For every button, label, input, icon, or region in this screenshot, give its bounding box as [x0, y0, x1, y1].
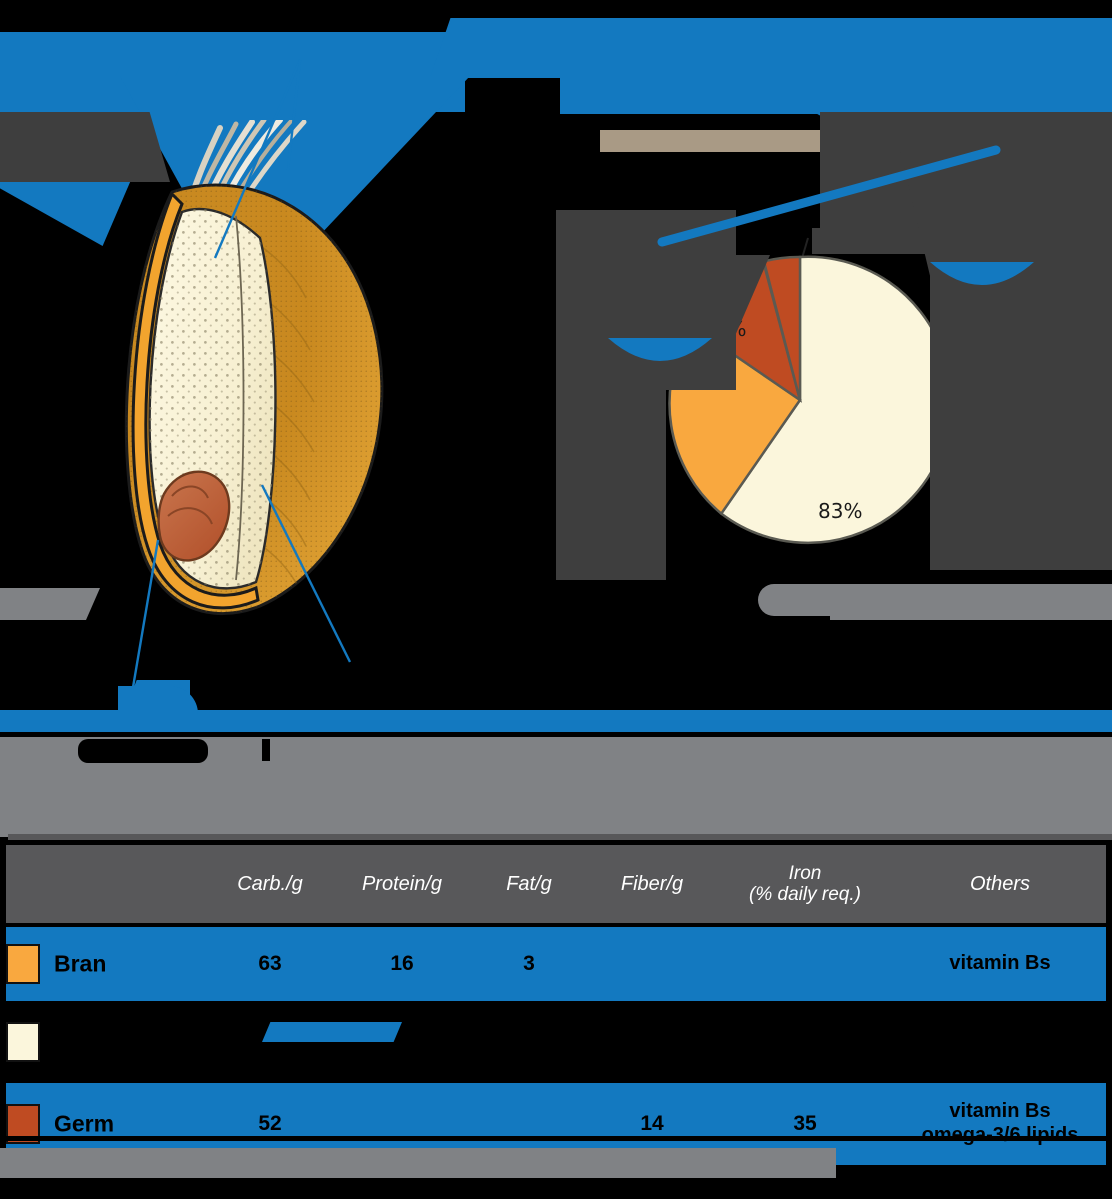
cell-endosperm-protein: [334, 1005, 470, 1079]
cell-bran-protein: 16: [334, 927, 470, 1001]
table-row-endosperm[interactable]: [6, 1005, 1106, 1079]
redaction-block-tan-strip: [600, 130, 820, 152]
table-row-bran[interactable]: Bran 63 16 3 vitamin Bs: [6, 927, 1106, 1001]
redaction-block-title-right: [430, 18, 1112, 78]
color-swatch-endosperm: [6, 1022, 40, 1062]
wheat-kernel-diagram: [60, 120, 480, 640]
row-label-bran: Bran: [54, 951, 106, 977]
cell-germ-others: vitamin Bs omega-3/6 lipids: [894, 1083, 1106, 1165]
col-header-fiber: Fiber/g: [588, 845, 716, 923]
cell-endosperm-carb: [206, 1005, 334, 1079]
figure-canvas: 14% 83% Carb./g Protein/g Fat/g: [0, 0, 1112, 1199]
col-header-iron: Iron (% daily req.): [716, 845, 894, 923]
redaction-block-pie-bg-right: [930, 230, 1112, 570]
redaction-block-pie-bg-bottom: [556, 390, 666, 580]
redaction-block-caption-right-2: [830, 600, 1112, 620]
row-label-bran-cell: Bran: [6, 927, 206, 1001]
cell-endosperm-iron: [716, 1005, 894, 1079]
row-label-germ: Germ: [54, 1111, 114, 1137]
redaction-block-endosperm-values: [262, 1022, 402, 1042]
cell-bran-others: vitamin Bs: [894, 927, 1106, 1001]
col-header-others: Others: [894, 845, 1106, 923]
table-bottom-rule: [6, 1136, 1106, 1141]
redaction-block-label-left-a: [0, 588, 100, 620]
col-header-fat: Fat/g: [470, 845, 588, 923]
row-label-endosperm-cell: [6, 1005, 206, 1079]
nutrition-table: Carb./g Protein/g Fat/g Fiber/g Iron (% …: [6, 845, 1106, 1165]
bottom-label-mask-b: [262, 739, 270, 761]
cell-endosperm-others: [894, 1005, 1106, 1079]
cell-bran-fat: 3: [470, 927, 588, 1001]
col-header-protein: Protein/g: [334, 845, 470, 923]
col-header-iron-sub: (% daily req.): [716, 884, 894, 905]
table-header-row: Carb./g Protein/g Fat/g Fiber/g Iron (% …: [6, 845, 1106, 923]
cell-bran-fiber: [588, 927, 716, 1001]
redaction-block-title-right-2: [560, 74, 1112, 114]
cell-endosperm-fiber: [588, 1005, 716, 1079]
redaction-block-footer: [0, 1148, 836, 1178]
cell-germ-others-line1: vitamin Bs: [894, 1100, 1106, 1124]
color-swatch-bran: [6, 944, 40, 984]
redaction-block-germ-percent: [812, 228, 1042, 254]
col-header-part: [6, 845, 206, 923]
bottom-label-mask-a: [78, 739, 208, 763]
cell-bran-iron: [716, 927, 894, 1001]
cell-endosperm-fat: [470, 1005, 588, 1079]
redaction-block-bottom-bar-bulge: [118, 686, 198, 714]
cell-bran-carb: 63: [206, 927, 334, 1001]
col-header-carb: Carb./g: [206, 845, 334, 923]
col-header-iron-main: Iron: [716, 863, 894, 884]
pie-label-endosperm: 83%: [818, 499, 862, 523]
redaction-block-bodytext-edge: [8, 834, 1112, 840]
redaction-block-pie-bg-left: [556, 210, 736, 390]
